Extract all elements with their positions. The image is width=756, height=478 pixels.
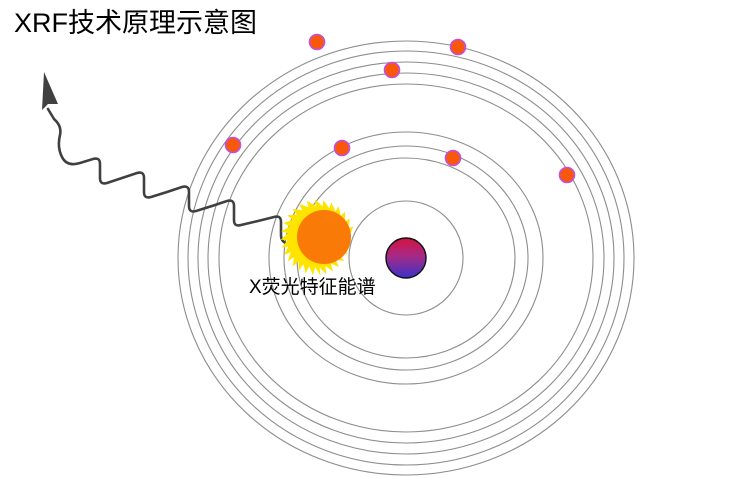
diagram-canvas: XRF技术原理示意图 X荧光特征能谱 xyxy=(0,0,756,478)
electron-3 xyxy=(385,63,400,78)
electron-4 xyxy=(226,138,241,153)
xray-wave-path xyxy=(48,109,305,248)
electron-6 xyxy=(446,151,461,166)
fluorescence-label: X荧光特征能谱 xyxy=(249,276,376,298)
page-title: XRF技术原理示意图 xyxy=(14,8,257,38)
xray-arrowhead-icon xyxy=(42,72,58,110)
nucleus xyxy=(386,238,426,278)
electron-1 xyxy=(310,35,325,50)
electron-2 xyxy=(451,40,466,55)
emitted-xray-wave xyxy=(42,72,305,248)
electron-7 xyxy=(560,168,575,183)
fluorescence-burst xyxy=(281,199,354,275)
burst-core xyxy=(297,210,351,264)
electron-5 xyxy=(335,141,350,156)
xrf-principle-diagram: XRF技术原理示意图 X荧光特征能谱 xyxy=(0,0,756,478)
